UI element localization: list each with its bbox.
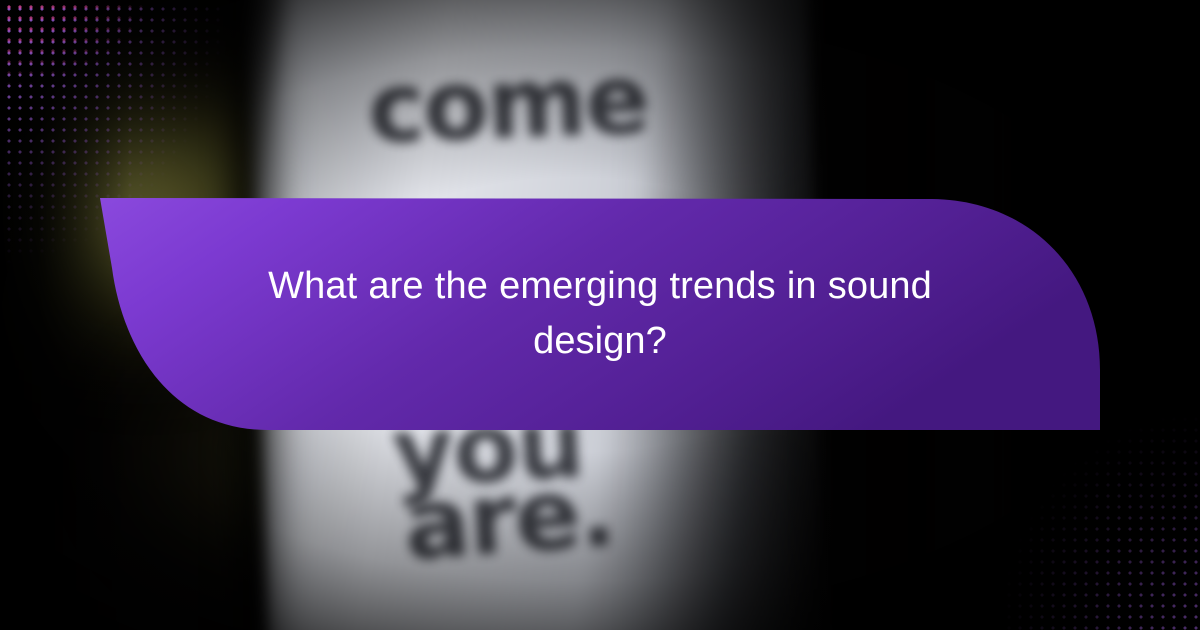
top-left-pink-dots-icon bbox=[0, 0, 176, 114]
question-title: What are the emerging trends in sound de… bbox=[250, 259, 950, 369]
question-text-block: What are the emerging trends in sound de… bbox=[190, 198, 1010, 430]
og-image-card: come you are. What are th bbox=[0, 0, 1200, 630]
